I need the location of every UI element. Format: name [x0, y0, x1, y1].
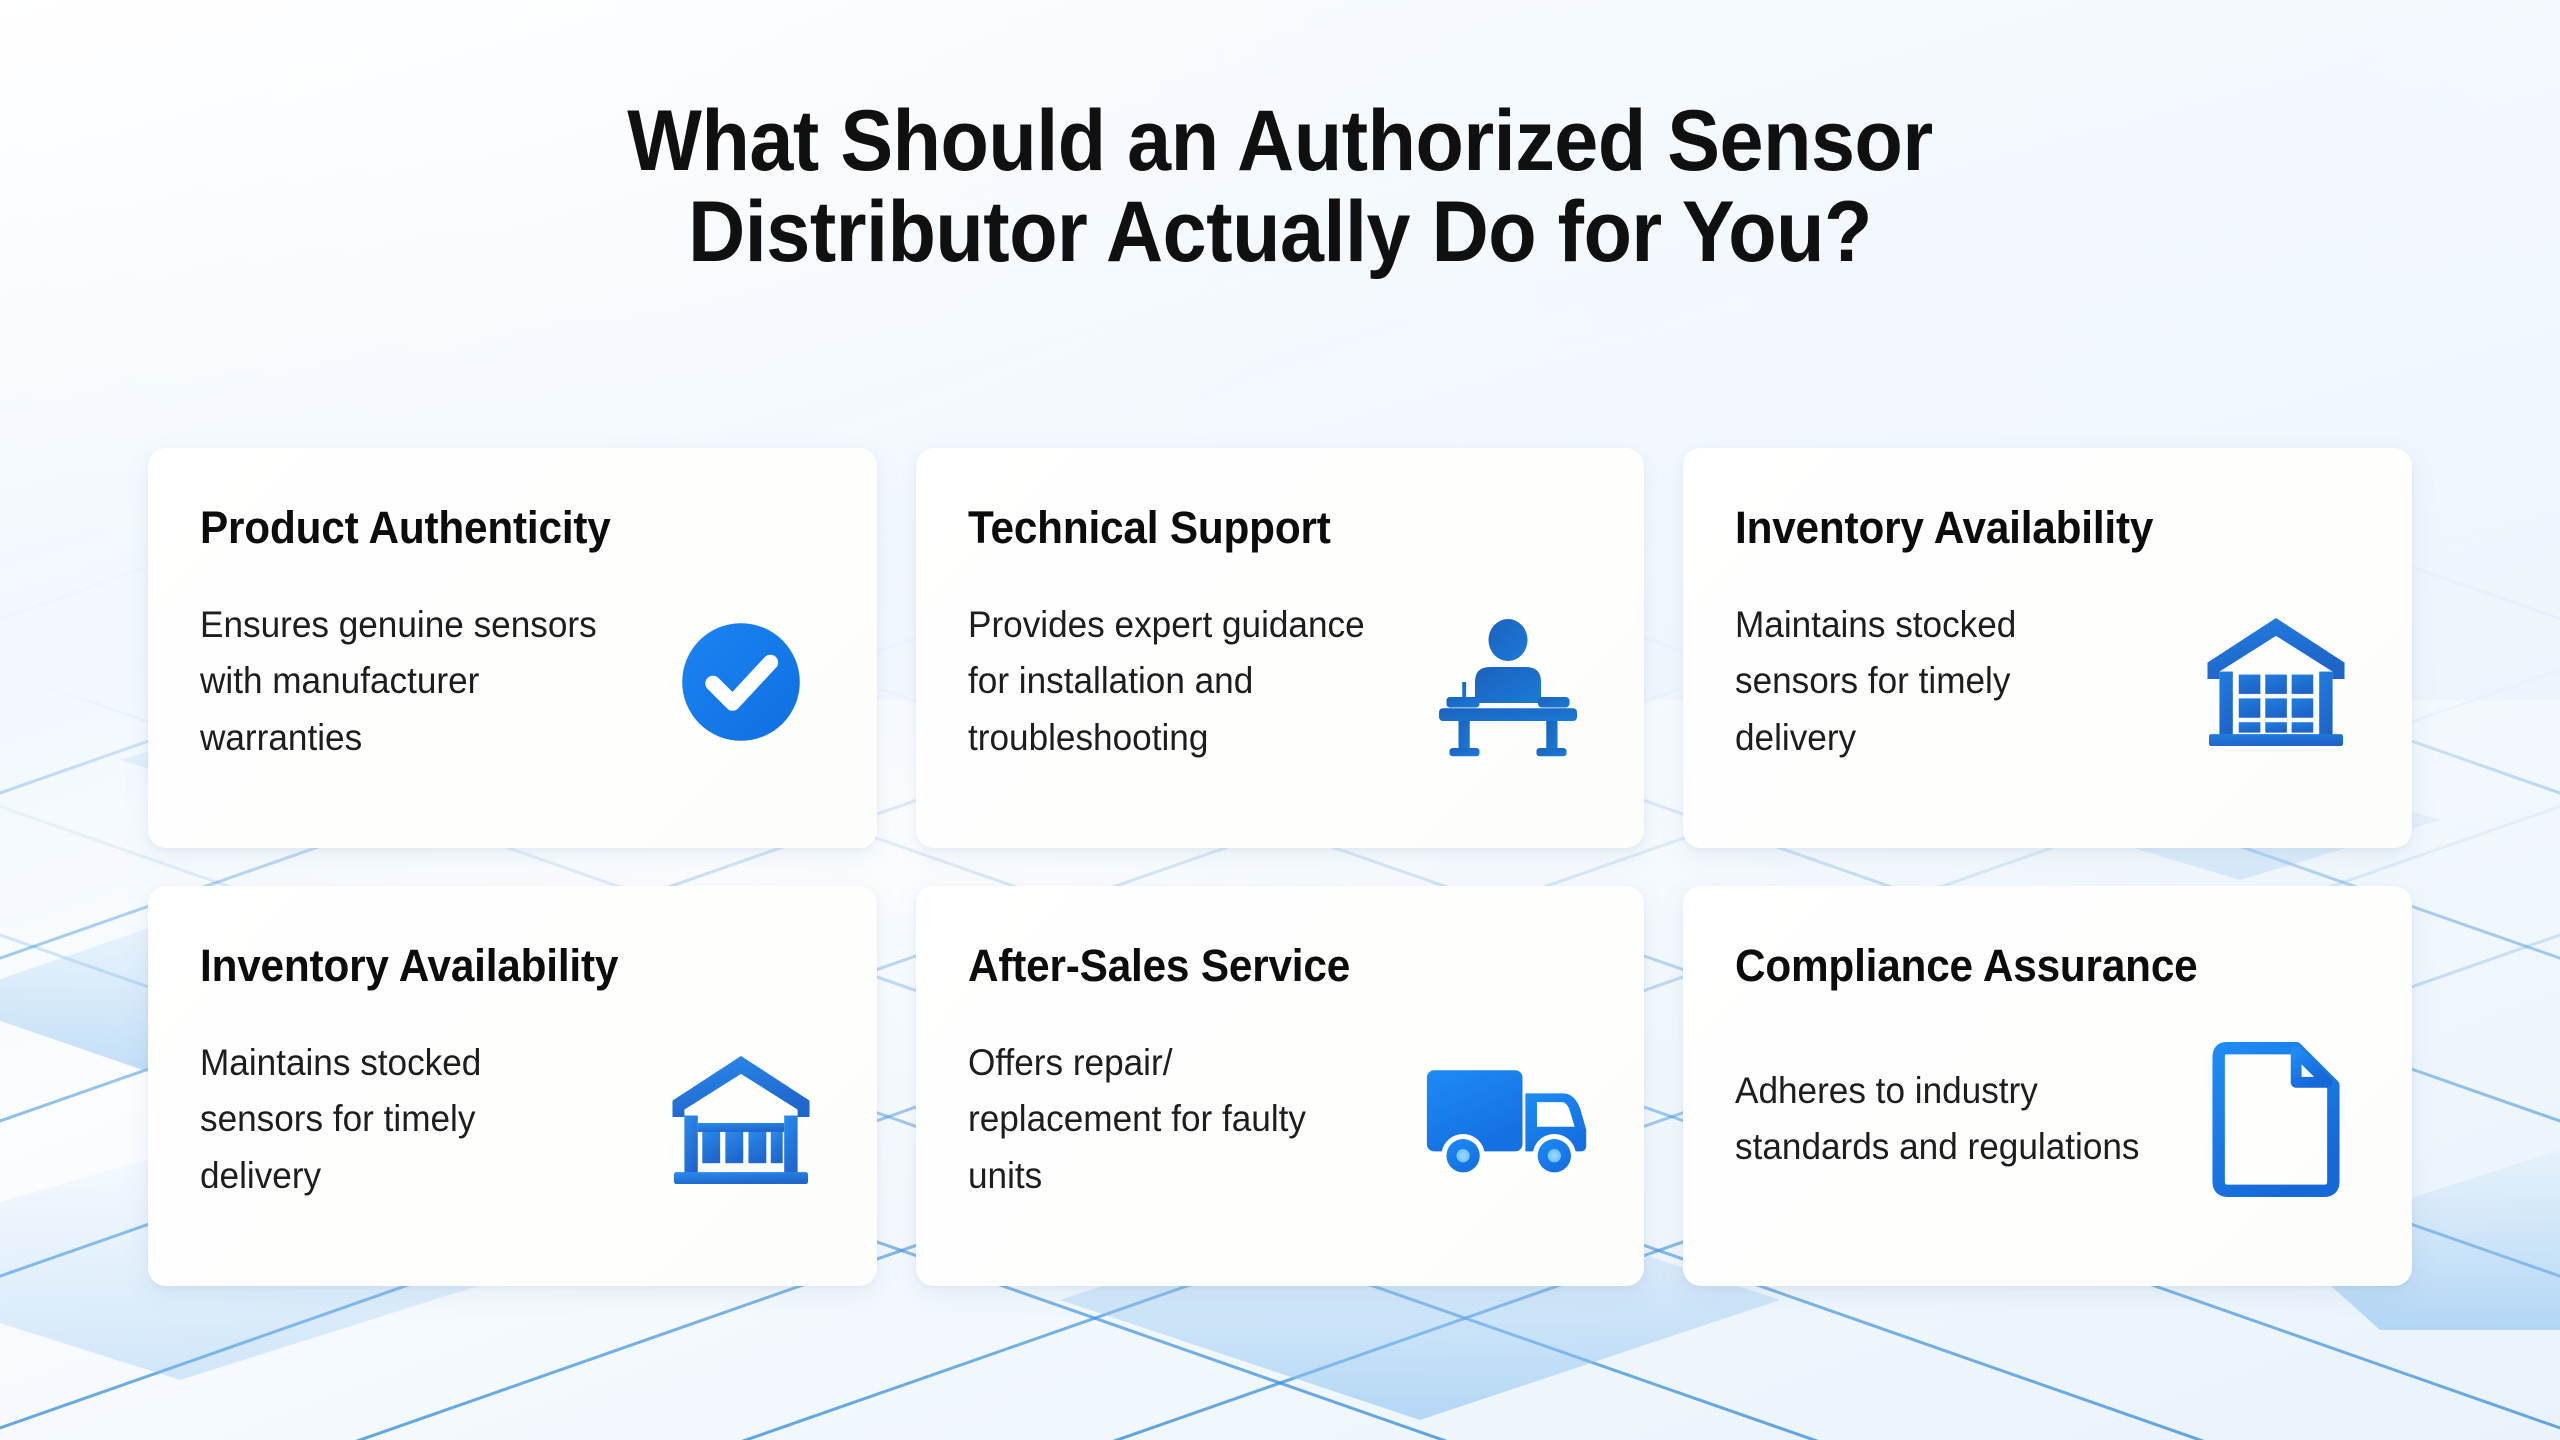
card-body: Offers repair/ replacement for faulty un… — [968, 1035, 1593, 1204]
feature-card-technical-support[interactable]: Technical Support Provides expert guidan… — [916, 448, 1645, 848]
person-at-desk-icon — [1424, 598, 1592, 766]
feature-card-compliance-assurance[interactable]: Compliance Assurance Adheres to industry… — [1683, 886, 2412, 1286]
feature-card-grid: Product Authenticity Ensures genuine sen… — [148, 448, 2412, 1286]
card-title: After-Sales Service — [968, 942, 1555, 989]
card-description: Adheres to industry standards and regula… — [1735, 1063, 2144, 1175]
infographic-canvas: What Should an Authorized Sensor Distrib… — [0, 0, 2560, 1440]
card-description: Provides expert guidance for installatio… — [968, 597, 1385, 766]
document-lines-icon — [2192, 1035, 2360, 1203]
feature-card-after-sales-service[interactable]: After-Sales Service Offers repair/ repla… — [916, 886, 1645, 1286]
feature-card-inventory-availability-top[interactable]: Inventory Availability Maintains stocked… — [1683, 448, 2412, 848]
check-circle-icon — [657, 598, 825, 766]
feature-card-product-authenticity[interactable]: Product Authenticity Ensures genuine sen… — [148, 448, 877, 848]
feature-card-inventory-availability-bottom[interactable]: Inventory Availability Maintains stocked… — [148, 886, 877, 1286]
card-body: Maintains stocked sensors for timely del… — [1735, 597, 2360, 766]
card-description: Offers repair/ replacement for faulty un… — [968, 1035, 1310, 1204]
card-title: Compliance Assurance — [1735, 942, 2322, 989]
card-body: Adheres to industry standards and regula… — [1735, 1035, 2360, 1203]
page-title-line-1: What Should an Authorized Sensor — [102, 96, 2457, 187]
card-title: Inventory Availability — [1735, 504, 2322, 551]
warehouse-icon — [657, 1036, 825, 1204]
card-description: Ensures genuine sensors with manufacture… — [200, 597, 617, 766]
card-body: Ensures genuine sensors with manufacture… — [200, 597, 825, 766]
card-title: Product Authenticity — [200, 504, 787, 551]
card-title: Inventory Availability — [200, 942, 787, 989]
page-title: What Should an Authorized Sensor Distrib… — [0, 96, 2560, 278]
page-title-line-2: Distributor Actually Do for You? — [102, 187, 2457, 278]
card-body: Maintains stocked sensors for timely del… — [200, 1035, 825, 1204]
card-description: Maintains stocked sensors for timely del… — [1735, 597, 2115, 766]
card-description: Maintains stocked sensors for timely del… — [200, 1035, 561, 1204]
delivery-truck-icon — [1424, 1036, 1592, 1204]
card-body: Provides expert guidance for installatio… — [968, 597, 1593, 766]
card-title: Technical Support — [968, 504, 1555, 551]
warehouse-icon — [2192, 598, 2360, 766]
